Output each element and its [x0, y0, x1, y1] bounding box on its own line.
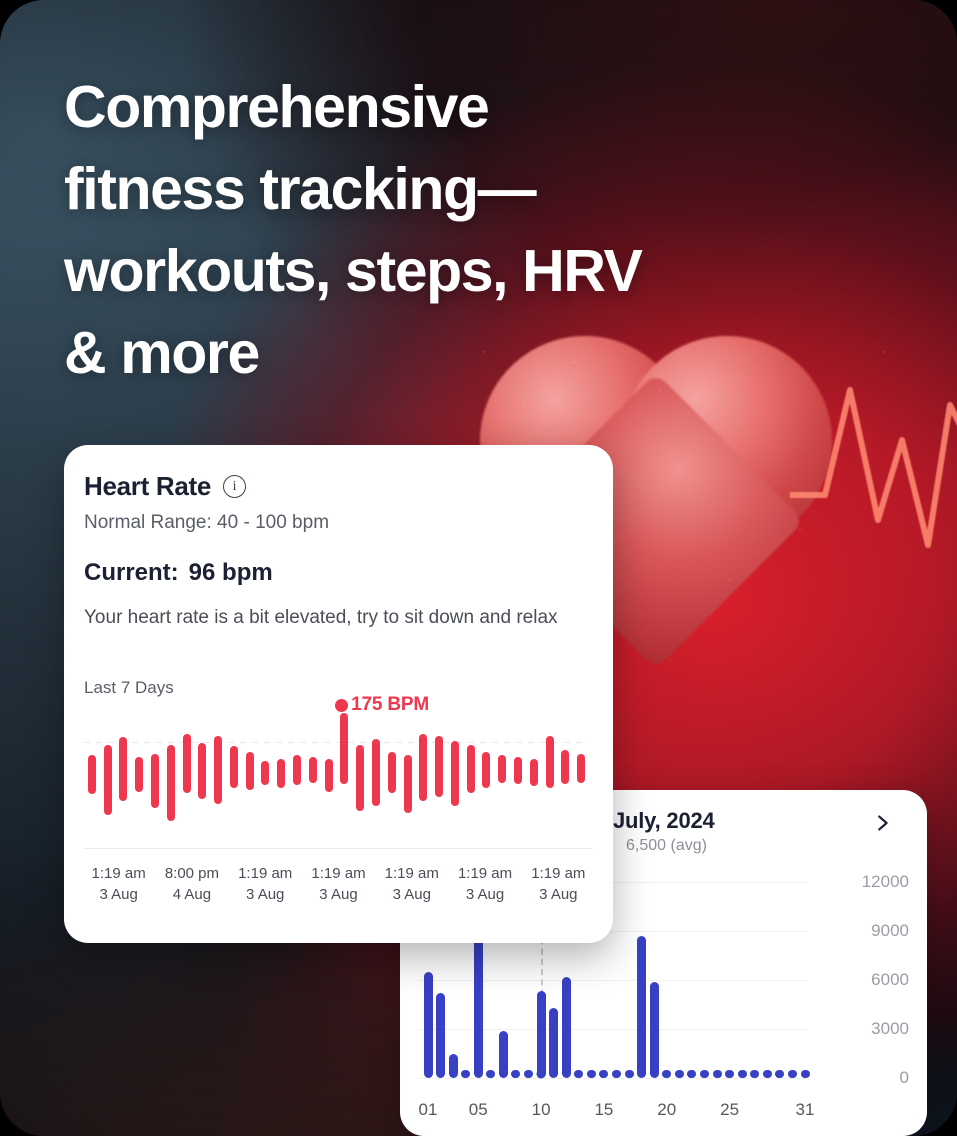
heart-rate-x-axis-labels: 1:19 am3 Aug8:00 pm4 Aug1:19 am3 Aug1:19…: [82, 863, 595, 905]
steps-bar: [637, 936, 646, 1078]
date-value: 3 Aug: [82, 884, 155, 905]
heart-rate-bar: [419, 734, 427, 801]
heart-rate-bar: [577, 754, 585, 783]
time-value: 8:00 pm: [155, 863, 228, 884]
heart-rate-divider: [84, 848, 593, 849]
heart-rate-bar: [388, 752, 396, 794]
heart-rate-card[interactable]: Heart Rate i Normal Range: 40 - 100 bpm …: [64, 445, 613, 943]
heart-rate-current-label: Current:: [84, 559, 179, 586]
steps-bar: [474, 931, 483, 1078]
heart-rate-bar: [325, 759, 333, 792]
steps-average-label: 6,500 (avg): [626, 837, 907, 855]
heart-rate-bar: [230, 746, 238, 788]
heart-rate-time-label: 8:00 pm4 Aug: [155, 863, 228, 905]
heart-rate-header: Heart Rate i: [84, 471, 246, 502]
steps-x-tick-label: 05: [469, 1100, 488, 1120]
heart-rate-time-label: 1:19 am3 Aug: [375, 863, 448, 905]
steps-bar: [587, 1070, 596, 1078]
heart-rate-bar: [435, 736, 443, 797]
steps-bar: [436, 993, 445, 1078]
steps-bar: [449, 1054, 458, 1079]
date-value: 3 Aug: [448, 884, 521, 905]
heart-rate-bar: [261, 761, 269, 785]
heart-rate-bar: [404, 755, 412, 813]
chevron-right-icon[interactable]: [871, 812, 893, 834]
steps-bar: [801, 1070, 810, 1078]
heart-rate-normal-range: Normal Range: 40 - 100 bpm: [84, 512, 329, 534]
heart-rate-bar: [482, 752, 490, 788]
heart-rate-peak-dot: [335, 699, 348, 712]
date-value: 3 Aug: [229, 884, 302, 905]
time-value: 1:19 am: [229, 863, 302, 884]
heart-rate-bar: [167, 745, 175, 822]
heart-rate-bar: [467, 745, 475, 794]
steps-y-tick-label: 9000: [823, 921, 909, 941]
steps-month-title: July, 2024: [613, 808, 715, 834]
steps-y-tick-label: 12000: [823, 872, 909, 892]
steps-bar: [650, 982, 659, 1078]
info-icon[interactable]: i: [223, 475, 246, 498]
steps-x-tick-label: 15: [594, 1100, 613, 1120]
date-value: 3 Aug: [522, 884, 595, 905]
heart-rate-bar: [356, 745, 364, 812]
steps-bar: [562, 977, 571, 1078]
steps-marker-dot: [537, 1070, 546, 1079]
heart-rate-bar: [498, 755, 506, 782]
heart-rate-bar: [198, 743, 206, 799]
heart-rate-time-label: 1:19 am3 Aug: [82, 863, 155, 905]
steps-bar: [424, 972, 433, 1078]
steps-y-tick-label: 0: [823, 1068, 909, 1088]
date-value: 3 Aug: [375, 884, 448, 905]
steps-x-tick-label: 01: [419, 1100, 438, 1120]
steps-gridline: [418, 1078, 807, 1079]
heart-rate-bar: [514, 757, 522, 784]
steps-bar: [625, 1070, 634, 1078]
heart-rate-bar: [135, 757, 143, 791]
steps-x-tick-label: 31: [796, 1100, 815, 1120]
steps-y-tick-label: 3000: [823, 1019, 909, 1039]
promo-screenshot-root: Comprehensive fitness tracking— workouts…: [0, 0, 957, 1136]
steps-bar: [788, 1070, 797, 1078]
time-value: 1:19 am: [448, 863, 521, 884]
heart-rate-bar: [561, 750, 569, 784]
heart-rate-bar: [293, 755, 301, 785]
steps-bar: [713, 1070, 722, 1078]
heart-rate-period-label: Last 7 Days: [84, 678, 174, 698]
heart-rate-bar: [183, 734, 191, 794]
steps-bar: [750, 1070, 759, 1078]
heart-rate-bar: [451, 741, 459, 806]
heart-rate-bar: [119, 737, 127, 800]
steps-bar: [662, 1070, 671, 1078]
heart-rate-time-label: 1:19 am3 Aug: [522, 863, 595, 905]
steps-bar: [549, 1008, 558, 1078]
heart-rate-bar: [88, 755, 96, 794]
steps-x-tick-label: 10: [532, 1100, 551, 1120]
steps-x-tick-label: 25: [720, 1100, 739, 1120]
steps-bar: [763, 1070, 772, 1078]
steps-bar: [537, 991, 546, 1078]
steps-card-header: July, 2024 6,500 (avg): [613, 808, 907, 855]
steps-bar: [461, 1070, 470, 1078]
heart-rate-bar: [530, 759, 538, 786]
steps-bar: [738, 1070, 747, 1078]
steps-y-tick-label: 6000: [823, 970, 909, 990]
heart-rate-bar: [246, 752, 254, 790]
page-headline: Comprehensive fitness tracking— workouts…: [64, 66, 764, 394]
steps-bar: [687, 1070, 696, 1078]
steps-bar: [499, 1031, 508, 1078]
steps-bar: [725, 1070, 734, 1078]
heart-rate-top-rule: [84, 742, 589, 743]
heart-rate-current-value: 96 bpm: [189, 559, 273, 586]
heart-rate-bar: [277, 759, 285, 788]
heart-rate-bar: [546, 736, 554, 788]
steps-bar: [599, 1070, 608, 1078]
steps-bar: [511, 1070, 520, 1078]
steps-bar: [612, 1070, 621, 1078]
date-value: 4 Aug: [155, 884, 228, 905]
time-value: 1:19 am: [82, 863, 155, 884]
time-value: 1:19 am: [302, 863, 375, 884]
heart-rate-note: Your heart rate is a bit elevated, try t…: [84, 602, 589, 634]
steps-bar: [700, 1070, 709, 1078]
heart-rate-time-label: 1:19 am3 Aug: [229, 863, 302, 905]
heart-rate-bar: [151, 754, 159, 808]
heart-rate-bar: [214, 736, 222, 805]
date-value: 3 Aug: [302, 884, 375, 905]
heart-rate-bar: [340, 713, 348, 784]
heart-rate-time-label: 1:19 am3 Aug: [302, 863, 375, 905]
steps-bar: [675, 1070, 684, 1078]
heart-rate-range-chart: 175 BPM: [84, 713, 589, 835]
heart-rate-peak-label: 175 BPM: [351, 694, 429, 716]
steps-bar: [574, 1070, 583, 1078]
heart-rate-title: Heart Rate: [84, 471, 211, 502]
steps-bar: [486, 1070, 495, 1078]
heart-rate-current: Current:96 bpm: [84, 559, 273, 587]
steps-bar: [775, 1070, 784, 1078]
heart-rate-bar: [104, 745, 112, 815]
heart-rate-time-label: 1:19 am3 Aug: [448, 863, 521, 905]
time-value: 1:19 am: [522, 863, 595, 884]
heart-rate-bar: [309, 757, 317, 782]
time-value: 1:19 am: [375, 863, 448, 884]
steps-x-tick-label: 20: [657, 1100, 676, 1120]
heart-rate-bar: [372, 739, 380, 806]
steps-bar: [524, 1070, 533, 1078]
